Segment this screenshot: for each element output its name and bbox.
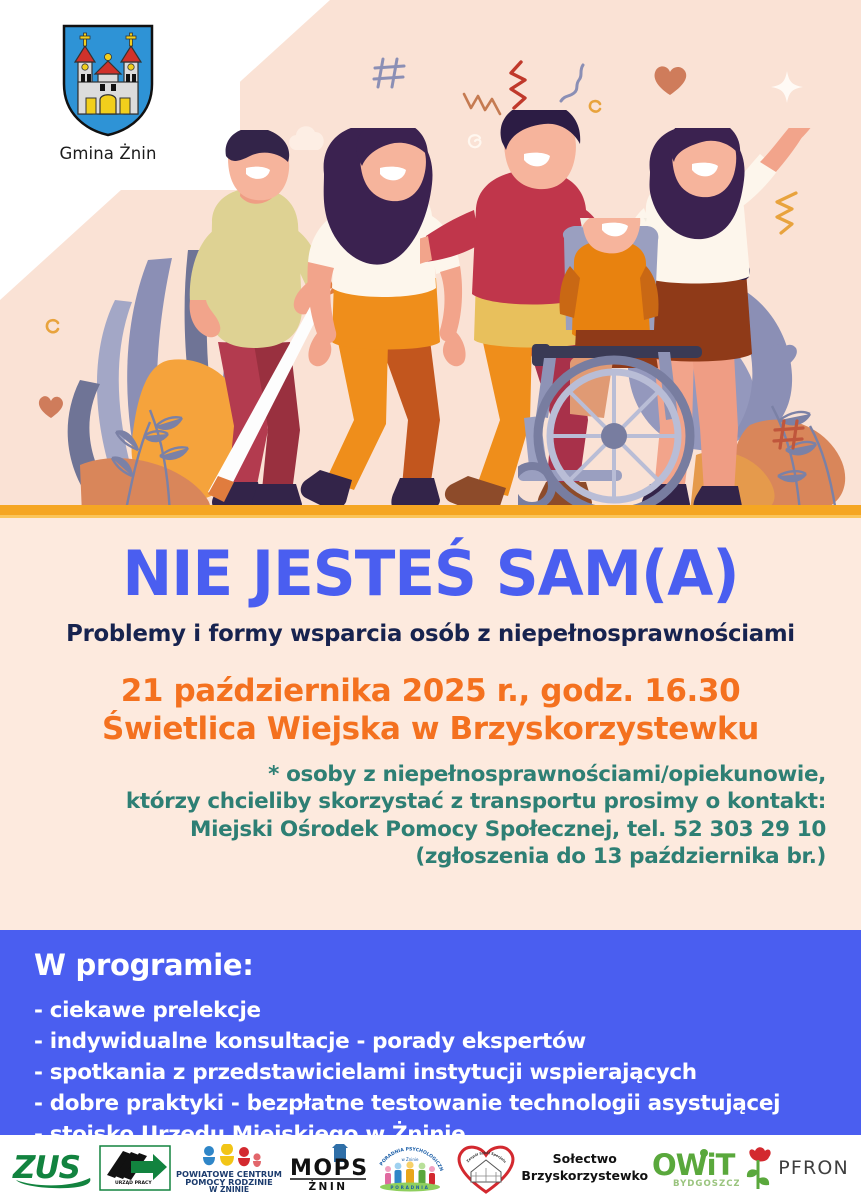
- orange-divider-bar-thin: [0, 515, 861, 518]
- program-list: - ciekawe prelekcje - indywidualne konsu…: [34, 996, 861, 1151]
- transport-note-line-2: którzy chcieliby skorzystać z transportu…: [0, 788, 826, 816]
- page-subtitle: Problemy i formy wsparcia osób z niepełn…: [13, 619, 848, 647]
- poradnia-logo-icon: PORADNIA PSYCHOLOGICZNO-PEDAGOGICZNA w Ż…: [370, 1144, 450, 1192]
- svg-text:w Żninie: w Żninie: [402, 1157, 420, 1162]
- mops-logo-icon: MOPS ŻNIN: [288, 1144, 368, 1192]
- program-item: - indywidualne konsultacje - porady eksp…: [34, 1027, 861, 1058]
- urzad-pracy-logo: URZĄD PRACY: [99, 1145, 171, 1191]
- svg-text:OWiT: OWiT: [652, 1148, 736, 1182]
- heart-school-logo-icon: Zespół Szkół Specjalnych: [453, 1142, 519, 1194]
- solectwo-line-2: Brzyskorzystewko: [521, 1168, 648, 1185]
- urzad-pracy-label: URZĄD PRACY: [115, 1180, 152, 1186]
- hero-illustration: Gmina Żnin: [0, 0, 861, 512]
- transport-note: * osoby z niepełnosprawnościami/opiekuno…: [0, 761, 861, 871]
- heart-icon: [650, 62, 690, 98]
- program-item: - ciekawe prelekcje: [34, 996, 861, 1027]
- transport-note-line-4: (zgłoszenia do 13 października br.): [0, 843, 826, 871]
- program-heading: W programie:: [34, 948, 861, 982]
- pcpr-logo-icon: POWIATOWE CENTRUM POMOCY RODZINIE W ŻNIN…: [173, 1144, 285, 1192]
- hash-icon: [372, 55, 408, 91]
- pfron-logo: PFRON: [741, 1145, 849, 1191]
- pcpr-logo: POWIATOWE CENTRUM POMOCY RODZINIE W ŻNIN…: [173, 1144, 285, 1192]
- szkola-podstawowa-heart-logo: Zespół Szkół Specjalnych: [453, 1142, 519, 1194]
- orange-divider-bar: [0, 505, 861, 515]
- pfron-label: PFRON: [778, 1157, 849, 1179]
- solectwo-line-1: Sołectwo: [521, 1151, 648, 1168]
- crest-block: Gmina Żnin: [52, 22, 164, 163]
- poradnia-psychologiczno-pedagogiczna-logo: PORADNIA PSYCHOLOGICZNO-PEDAGOGICZNA w Ż…: [370, 1144, 450, 1192]
- svg-text:ŻNIN: ŻNIN: [308, 1179, 347, 1192]
- pfron-tulip-icon: [741, 1145, 775, 1191]
- figure-person-in-wheelchair: [518, 218, 788, 512]
- mops-logo: MOPS ŻNIN: [288, 1144, 368, 1192]
- svg-text:MOPS: MOPS: [290, 1156, 368, 1181]
- program-item: - dobre praktyki - bezpłatne testowanie …: [34, 1089, 861, 1120]
- event-date-line: 21 października 2025 r., godz. 16.30: [0, 673, 861, 711]
- spiral-gold-icon: [40, 315, 66, 341]
- svg-text:W ŻNINIE: W ŻNINIE: [209, 1185, 249, 1192]
- program-item: - spotkania z przedstawicielami instytuc…: [34, 1058, 861, 1089]
- znin-coat-of-arms-icon: [58, 22, 158, 137]
- event-place-line: Świetlica Wiejska w Brzyskorzystewku: [0, 711, 861, 749]
- zus-logo: ZUS: [12, 1147, 96, 1189]
- owit-logo-icon: OWiT BYDGOSZCZ: [651, 1145, 739, 1191]
- poster: Gmina Żnin NIE JESTEŚ SAM(A) Problemy i …: [0, 0, 861, 1200]
- heart-small-icon: [36, 393, 66, 421]
- zus-logo-icon: ZUS: [12, 1147, 96, 1189]
- transport-note-line-1: * osoby z niepełnosprawnościami/opiekuno…: [0, 761, 826, 789]
- svg-text:BYDGOSZCZ: BYDGOSZCZ: [673, 1179, 739, 1189]
- crest-label: Gmina Żnin: [52, 144, 164, 163]
- program-section: W programie: - ciekawe prelekcje - indyw…: [0, 930, 861, 1135]
- info-section: NIE JESTEŚ SAM(A) Problemy i formy wspar…: [0, 518, 861, 930]
- transport-note-line-3: Miejski Ośrodek Pomocy Społecznej, tel. …: [0, 816, 826, 844]
- partner-logos-footer: ZUS URZĄD PRACY: [0, 1135, 861, 1200]
- svg-text:PORADNIA: PORADNIA: [391, 1185, 430, 1190]
- solectwo-logo: Sołectwo Brzyskorzystewko: [521, 1151, 648, 1185]
- svg-text:ZUS: ZUS: [12, 1150, 80, 1186]
- page-title: NIE JESTEŚ SAM(A): [17, 542, 844, 605]
- urzad-pracy-logo-icon: URZĄD PRACY: [99, 1145, 171, 1191]
- event-datetime: 21 października 2025 r., godz. 16.30 Świ…: [0, 673, 861, 749]
- owit-logo: OWiT BYDGOSZCZ: [651, 1145, 739, 1191]
- solectwo-label-block: Sołectwo Brzyskorzystewko: [521, 1151, 648, 1185]
- star-icon: [770, 70, 804, 104]
- zigzag-red-icon: [505, 60, 537, 112]
